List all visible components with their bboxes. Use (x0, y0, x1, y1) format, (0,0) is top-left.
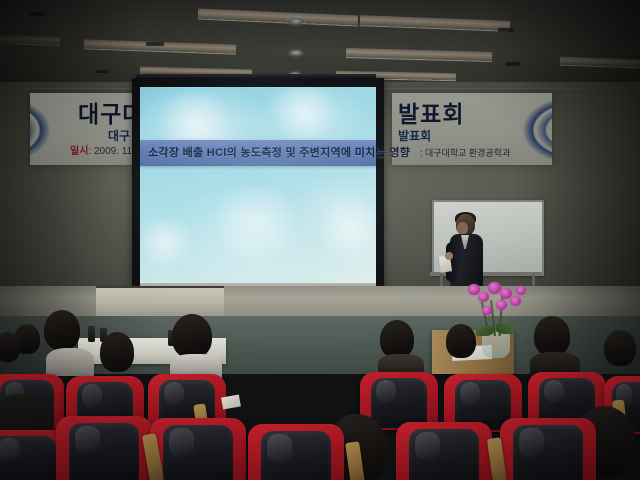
audience-head (534, 316, 570, 356)
seat-highlight (460, 382, 480, 405)
round-downlight (289, 50, 303, 56)
ceiling-vent (30, 12, 44, 16)
cloud-shape (140, 217, 200, 267)
banner-left-subtitle: 대구 (108, 130, 130, 142)
seat-highlight (169, 428, 194, 456)
orchid-bloom (496, 300, 507, 310)
fluorescent-troffer (360, 15, 510, 31)
ceiling-vent (506, 62, 520, 66)
orchid-leaf (496, 324, 514, 334)
cloud-shape (260, 87, 346, 139)
fluorescent-troffer (84, 39, 236, 53)
auditorium-seat[interactable] (56, 416, 152, 480)
ceiling-vent (96, 70, 108, 73)
seat-highlight (544, 380, 564, 403)
audience-area (0, 360, 640, 480)
audience-head (446, 324, 476, 358)
audience-head (44, 310, 80, 350)
audience-handout (221, 395, 241, 410)
audience-shoulder (46, 348, 94, 376)
fluorescent-troffer (0, 35, 60, 45)
dark-bottle (88, 326, 95, 342)
banner-right-title: 발표회 (398, 103, 464, 126)
orchid-bloom (478, 292, 489, 302)
orchid-bloom (510, 296, 521, 306)
seat-highlight (376, 380, 396, 403)
banner-date-keyword: 일시 (70, 146, 88, 157)
audience-head (0, 332, 20, 362)
lecture-hall-photo: 대구대 대구 일시: 2009. 11. 20(금) 발표회 발표회 : 대구대… (0, 0, 640, 480)
wall-radiator (96, 286, 224, 318)
seat-highlight (267, 434, 292, 462)
auditorium-seat[interactable] (500, 418, 596, 480)
auditorium-seat[interactable] (248, 424, 344, 480)
seat-highlight (415, 432, 440, 460)
fluorescent-troffer (346, 48, 492, 61)
fluorescent-troffer (560, 57, 640, 68)
orchid-bloom (516, 286, 526, 295)
slide-title-text: 소각장 배출 HCl의 농도측정 및 주변지역에 미치는 영향 (140, 147, 410, 159)
ceiling-vent (146, 42, 164, 46)
fluorescent-troffer (198, 9, 358, 26)
audience-head (100, 332, 134, 372)
projected-slide (140, 87, 376, 283)
auditorium-seat[interactable] (150, 418, 246, 480)
seat-highlight (519, 428, 544, 456)
slide-title-bar: 소각장 배출 HCl의 농도측정 및 주변지역에 미치는 영향 (140, 140, 376, 166)
ceiling-vent (498, 28, 514, 32)
cloud-shape (310, 199, 376, 259)
banner-right-organization: : 대구대학교 환경공학과 (420, 148, 510, 158)
auditorium-seat[interactable] (396, 422, 492, 480)
banner-right-subtitle: 발표회 (398, 130, 431, 142)
audience-head (172, 314, 212, 358)
round-downlight (288, 18, 304, 25)
orchid-leaf (476, 326, 494, 336)
seat-highlight (75, 426, 100, 453)
seat-highlight (82, 384, 102, 407)
banner-right: 발표회 발표회 : 대구대학교 환경공학과 (392, 93, 552, 165)
audience-head (380, 320, 414, 358)
presenter-hand (445, 252, 453, 260)
orchid-bloom (482, 306, 492, 315)
seat-highlight (164, 382, 184, 405)
cloud-shape (200, 187, 310, 257)
projection-screen: 소각장 배출 HCl의 농도측정 및 주변지역에 미치는 영향 (132, 78, 384, 300)
audience-head (604, 330, 636, 366)
